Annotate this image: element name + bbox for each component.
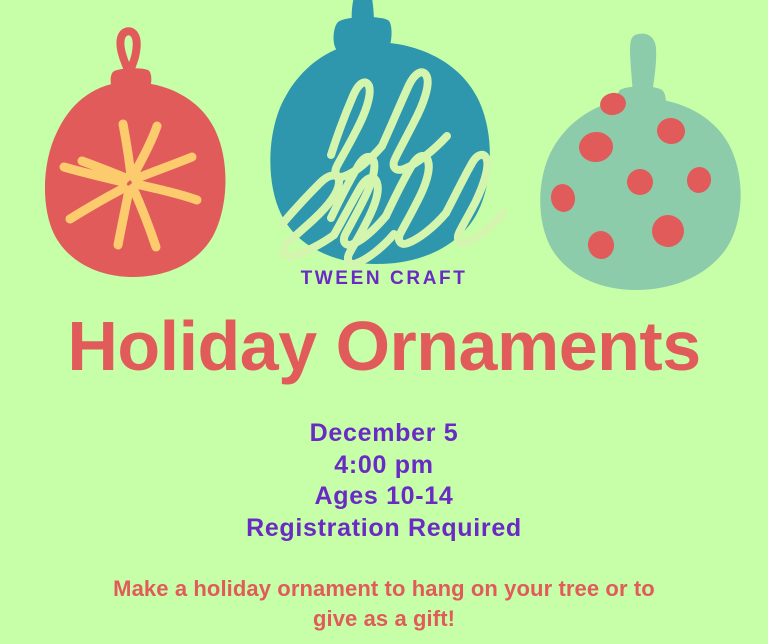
event-age-range: Ages 10-14 xyxy=(0,484,768,509)
program-eyebrow-label: TWEEN CRAFT xyxy=(0,269,768,288)
event-description-line-2: give as a gift! xyxy=(0,608,768,630)
page-title: Holiday Ornaments xyxy=(0,311,768,381)
event-time: 4:00 pm xyxy=(0,453,768,478)
event-date: December 5 xyxy=(0,421,768,446)
event-description-line-1: Make a holiday ornament to hang on your … xyxy=(0,578,768,600)
poster-text-layer: TWEEN CRAFT Holiday Ornaments December 5… xyxy=(0,0,768,644)
event-registration-note: Registration Required xyxy=(0,516,768,541)
poster-canvas: TWEEN CRAFT Holiday Ornaments December 5… xyxy=(0,0,768,644)
